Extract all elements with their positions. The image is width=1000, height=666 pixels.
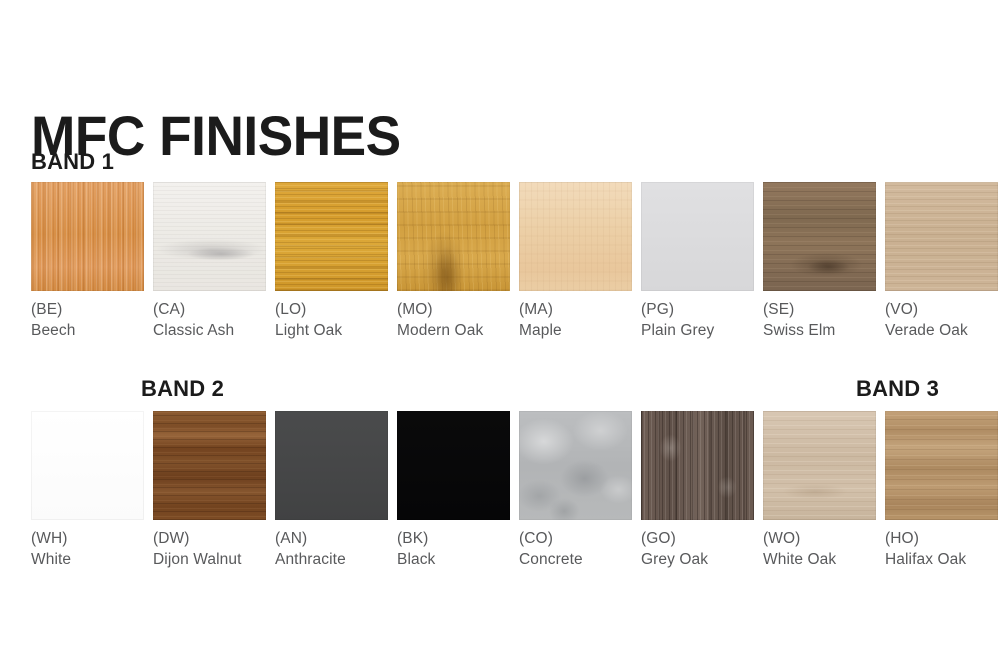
swatch-row-band-2-3: (WH)White(DW)Dijon Walnut(AN)Anthracite(… (31, 411, 971, 570)
swatch-cell[interactable]: (GO)Grey Oak (641, 411, 754, 570)
swatch-code: (GO) (641, 528, 754, 549)
swatch-code: (BK) (397, 528, 510, 549)
swatch-chip-verade-oak[interactable] (885, 182, 998, 291)
swatch-name: Halifax Oak (885, 549, 998, 570)
swatch-cell[interactable]: (VO)Verade Oak (885, 182, 998, 341)
swatch-chip-light-oak[interactable] (275, 182, 388, 291)
swatch-cell[interactable]: (DW)Dijon Walnut (153, 411, 266, 570)
swatch-name: Anthracite (275, 549, 388, 570)
swatch-cell[interactable]: (HO)Halifax Oak (885, 411, 998, 570)
band-heading-1: BAND 1 (31, 151, 114, 173)
swatch-chip-modern-oak[interactable] (397, 182, 510, 291)
swatch-caption: (WH)White (31, 528, 144, 570)
swatch-cell[interactable]: (CO)Concrete (519, 411, 632, 570)
swatch-name: Modern Oak (397, 320, 510, 341)
swatch-code: (DW) (153, 528, 266, 549)
swatch-name: Light Oak (275, 320, 388, 341)
swatch-chip-concrete[interactable] (519, 411, 632, 520)
swatch-chip-classic-ash[interactable] (153, 182, 266, 291)
swatch-code: (MO) (397, 299, 510, 320)
swatch-caption: (AN)Anthracite (275, 528, 388, 570)
swatch-chip-plain-grey[interactable] (641, 182, 754, 291)
swatch-name: Dijon Walnut (153, 549, 266, 570)
swatch-caption: (BK)Black (397, 528, 510, 570)
swatch-caption: (BE)Beech (31, 299, 144, 341)
swatch-name: Classic Ash (153, 320, 266, 341)
swatch-code: (HO) (885, 528, 998, 549)
swatch-caption: (HO)Halifax Oak (885, 528, 998, 570)
swatch-caption: (CA)Classic Ash (153, 299, 266, 341)
swatch-code: (WO) (763, 528, 876, 549)
swatch-cell[interactable]: (PG)Plain Grey (641, 182, 754, 341)
swatch-caption: (GO)Grey Oak (641, 528, 754, 570)
swatch-caption: (MO)Modern Oak (397, 299, 510, 341)
swatch-chip-black[interactable] (397, 411, 510, 520)
swatch-name: Swiss Elm (763, 320, 876, 341)
swatch-name: Black (397, 549, 510, 570)
swatch-chip-dijon-walnut[interactable] (153, 411, 266, 520)
swatch-caption: (MA)Maple (519, 299, 632, 341)
swatch-name: Maple (519, 320, 632, 341)
swatch-chip-grey-oak[interactable] (641, 411, 754, 520)
swatch-row-band-1: (BE)Beech(CA)Classic Ash(LO)Light Oak(MO… (31, 182, 971, 341)
swatch-chip-maple[interactable] (519, 182, 632, 291)
swatch-name: Concrete (519, 549, 632, 570)
swatch-chip-white-oak[interactable] (763, 411, 876, 520)
swatch-code: (WH) (31, 528, 144, 549)
band-heading-3: BAND 3 (856, 378, 939, 400)
swatch-caption: (SE)Swiss Elm (763, 299, 876, 341)
swatch-caption: (PG)Plain Grey (641, 299, 754, 341)
swatch-cell[interactable]: (WO)White Oak (763, 411, 876, 570)
swatch-chip-halifax-oak[interactable] (885, 411, 998, 520)
swatch-cell[interactable]: (MO)Modern Oak (397, 182, 510, 341)
swatch-caption: (DW)Dijon Walnut (153, 528, 266, 570)
swatch-chip-swiss-elm[interactable] (763, 182, 876, 291)
swatch-cell[interactable]: (BK)Black (397, 411, 510, 570)
swatch-name: Plain Grey (641, 320, 754, 341)
swatch-code: (PG) (641, 299, 754, 320)
swatch-name: White (31, 549, 144, 570)
band-heading-2: BAND 2 (141, 378, 224, 400)
swatch-caption: (CO)Concrete (519, 528, 632, 570)
swatch-name: Grey Oak (641, 549, 754, 570)
swatch-chip-white[interactable] (31, 411, 144, 520)
swatch-chip-anthracite[interactable] (275, 411, 388, 520)
swatch-code: (BE) (31, 299, 144, 320)
swatch-code: (VO) (885, 299, 998, 320)
swatch-name: White Oak (763, 549, 876, 570)
swatch-cell[interactable]: (BE)Beech (31, 182, 144, 341)
swatch-caption: (LO)Light Oak (275, 299, 388, 341)
swatch-code: (SE) (763, 299, 876, 320)
swatch-cell[interactable]: (SE)Swiss Elm (763, 182, 876, 341)
swatch-name: Verade Oak (885, 320, 998, 341)
swatch-cell[interactable]: (AN)Anthracite (275, 411, 388, 570)
swatch-code: (MA) (519, 299, 632, 320)
swatch-caption: (WO)White Oak (763, 528, 876, 570)
mfc-finishes-page: MFC FINISHES BAND 1 BAND 2 BAND 3 (BE)Be… (0, 0, 1000, 666)
swatch-name: Beech (31, 320, 144, 341)
swatch-code: (LO) (275, 299, 388, 320)
swatch-chip-beech[interactable] (31, 182, 144, 291)
swatch-cell[interactable]: (WH)White (31, 411, 144, 570)
swatch-cell[interactable]: (LO)Light Oak (275, 182, 388, 341)
swatch-code: (CO) (519, 528, 632, 549)
swatch-code: (CA) (153, 299, 266, 320)
swatch-cell[interactable]: (MA)Maple (519, 182, 632, 341)
swatch-code: (AN) (275, 528, 388, 549)
swatch-cell[interactable]: (CA)Classic Ash (153, 182, 266, 341)
swatch-caption: (VO)Verade Oak (885, 299, 998, 341)
